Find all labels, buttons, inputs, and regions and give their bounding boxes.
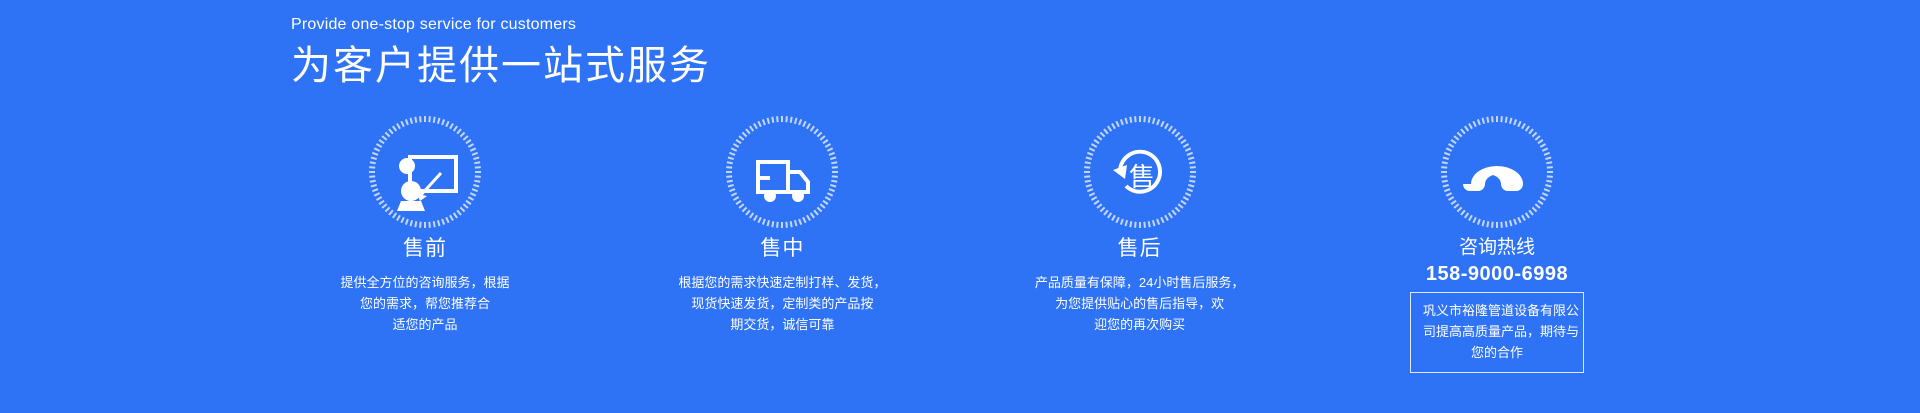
desc-line: 迎您的再次购买 bbox=[1015, 314, 1265, 335]
service-columns: 售前 提供全方位的咨询服务，根据 您的需求，帮您推荐合 适您的产品 bbox=[291, 112, 1631, 373]
hotline-company-box: 巩义市裕隆管道设备有限公 司提高高质量产品，期待与 您的合作 bbox=[1410, 292, 1584, 373]
delivery-truck-icon bbox=[722, 112, 842, 232]
desc-line: 提供全方位的咨询服务，根据 bbox=[300, 272, 550, 293]
telephone-icon bbox=[1437, 112, 1557, 232]
hotline-number: 158-9000-6998 bbox=[1426, 262, 1568, 286]
column-title: 售中 bbox=[760, 236, 804, 262]
desc-line: 根据您的需求快速定制打样、发货， bbox=[657, 272, 907, 293]
after-sales-return-icon: 售 bbox=[1080, 112, 1200, 232]
desc-line: 期交货，诚信可靠 bbox=[657, 314, 907, 335]
box-line: 司提高高质量产品，期待与 bbox=[1423, 321, 1571, 342]
column-title: 售前 bbox=[403, 236, 447, 262]
svg-text:售: 售 bbox=[1129, 162, 1155, 192]
service-column-hotline: 咨询热线 158-9000-6998 巩义市裕隆管道设备有限公 司提高高质量产品… bbox=[1363, 112, 1631, 373]
box-line: 巩义市裕隆管道设备有限公 bbox=[1423, 300, 1571, 321]
desc-line: 产品质量有保障，24小时售后服务， bbox=[1015, 272, 1265, 293]
column-title: 售后 bbox=[1118, 236, 1162, 262]
service-column-after-sale: 售 售后 产品质量有保障，24小时售后服务， 为您提供贴心的售后指导，欢 迎您的… bbox=[1006, 112, 1274, 373]
presentation-person-icon bbox=[365, 112, 485, 232]
box-line: 您的合作 bbox=[1423, 342, 1571, 363]
service-column-presale: 售前 提供全方位的咨询服务，根据 您的需求，帮您推荐合 适您的产品 bbox=[291, 112, 559, 373]
heading-block: Provide one-stop service for customers 为… bbox=[291, 14, 711, 90]
column-description: 产品质量有保障，24小时售后服务， 为您提供贴心的售后指导，欢 迎您的再次购买 bbox=[1015, 272, 1265, 335]
eyebrow-text: Provide one-stop service for customers bbox=[291, 14, 711, 36]
desc-line: 适您的产品 bbox=[300, 314, 550, 335]
service-column-during-sale: 售中 根据您的需求快速定制打样、发货， 现货快速发货，定制类的产品按 期交货，诚… bbox=[648, 112, 916, 373]
page-title: 为客户提供一站式服务 bbox=[291, 42, 711, 90]
service-banner: Provide one-stop service for customers 为… bbox=[0, 0, 1920, 413]
column-description: 提供全方位的咨询服务，根据 您的需求，帮您推荐合 适您的产品 bbox=[300, 272, 550, 335]
desc-line: 现货快速发货，定制类的产品按 bbox=[657, 293, 907, 314]
column-description: 根据您的需求快速定制打样、发货， 现货快速发货，定制类的产品按 期交货，诚信可靠 bbox=[657, 272, 907, 335]
desc-line: 为您提供贴心的售后指导，欢 bbox=[1015, 293, 1265, 314]
hotline-label: 咨询热线 bbox=[1459, 236, 1535, 260]
desc-line: 您的需求，帮您推荐合 bbox=[300, 293, 550, 314]
